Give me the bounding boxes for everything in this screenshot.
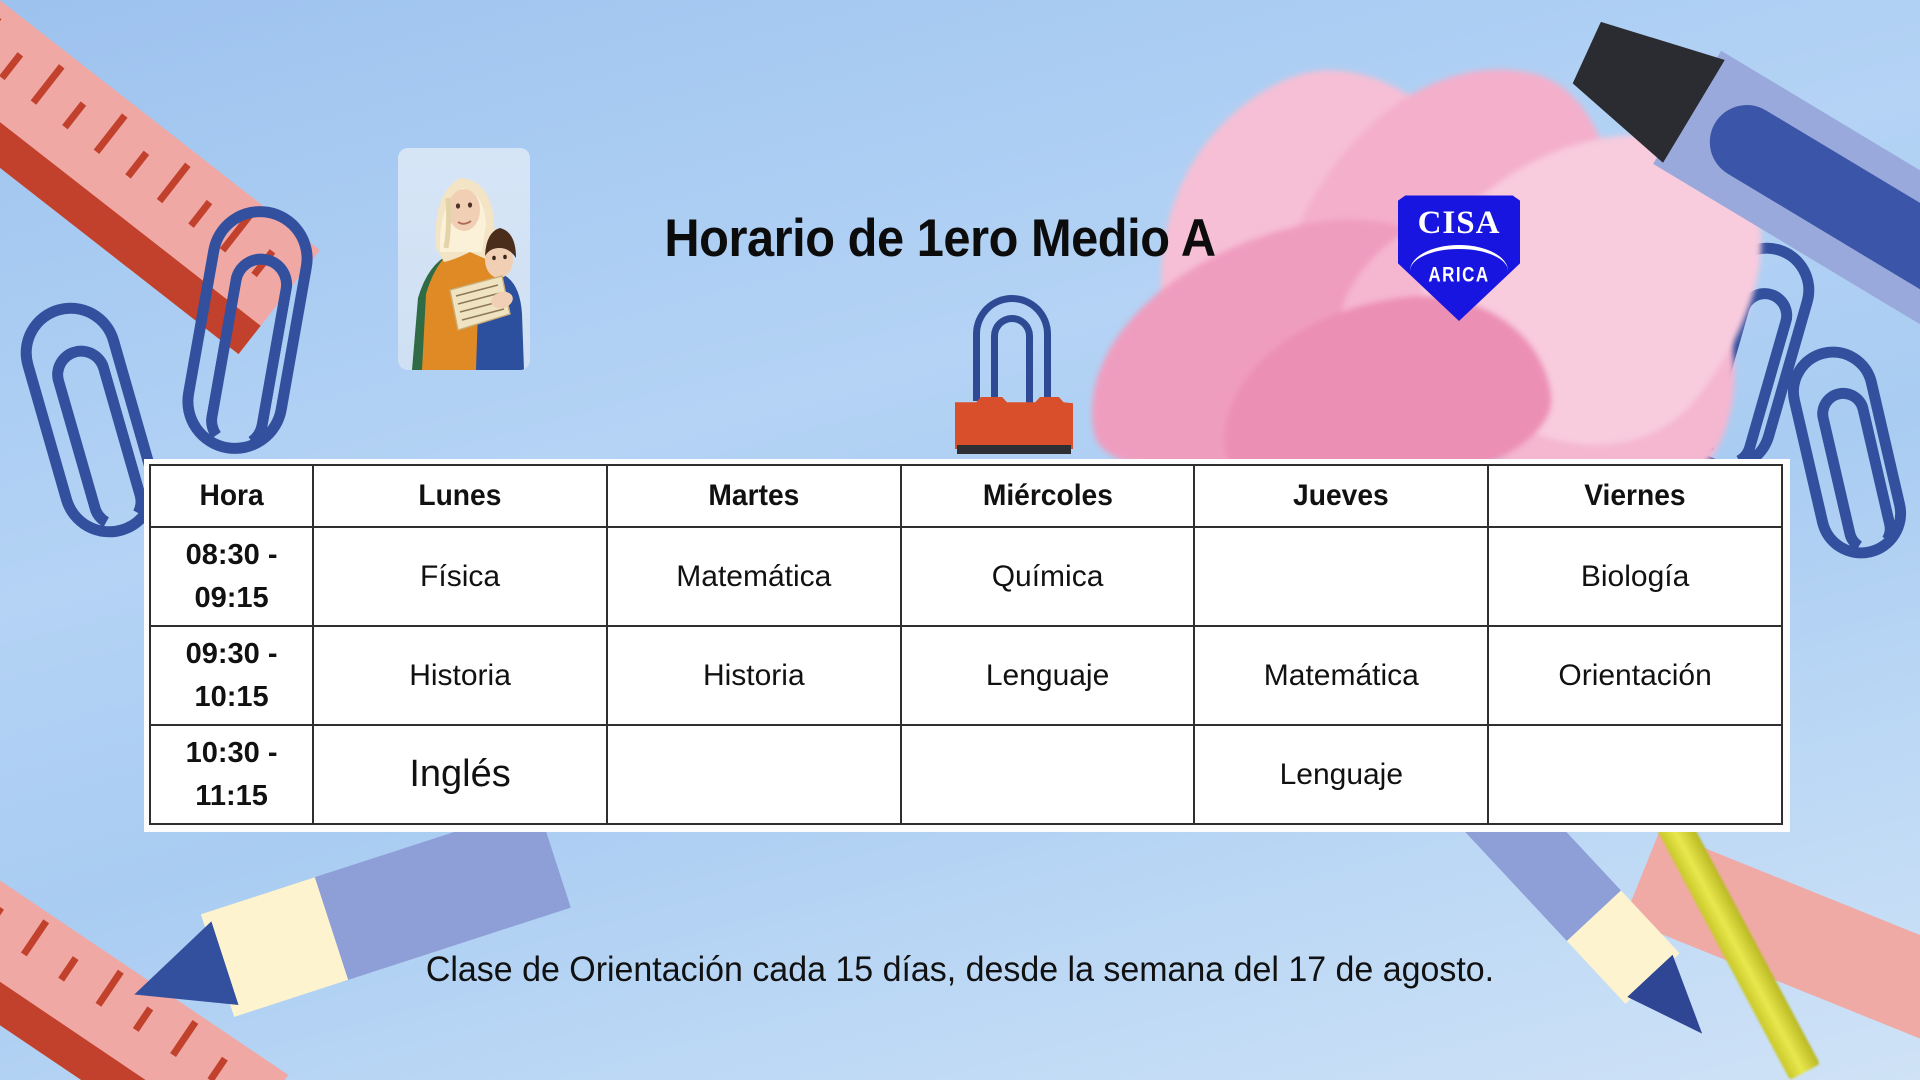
cell-miercoles-3 (901, 725, 1195, 824)
time-slot-3: 10:30 - 11:15 (150, 725, 313, 824)
binder-clip (955, 295, 1085, 455)
column-header-lunes: Lunes (322, 465, 598, 527)
column-header-jueves: Jueves (1203, 465, 1479, 527)
time-end: 11:15 (195, 780, 268, 812)
table-header-row: Hora Lunes Martes Miércoles Jueves Viern… (150, 465, 1782, 527)
cell-viernes-3 (1488, 725, 1782, 824)
table-row: 08:30 - 09:15 Física Matemática Química … (150, 527, 1782, 626)
column-header-viernes: Viernes (1497, 465, 1773, 527)
schedule-table-container: Hora Lunes Martes Miércoles Jueves Viern… (144, 459, 1790, 832)
paperclip-1 (174, 198, 321, 462)
cell-miercoles-2: Lenguaje (901, 626, 1195, 725)
cell-viernes-2: Orientación (1488, 626, 1782, 725)
schedule-table: Hora Lunes Martes Miércoles Jueves Viern… (149, 464, 1783, 825)
logo-text-arica: ARICA (1398, 263, 1520, 288)
time-slot-1: 08:30 - 09:15 (150, 527, 313, 626)
cell-miercoles-1: Química (901, 527, 1195, 626)
pencil-top-right (1552, 0, 1920, 330)
column-header-miercoles: Miércoles (910, 465, 1186, 527)
schedule-slide: Horario de 1ero Medio A CISA ARICA Hora … (0, 0, 1920, 1080)
time-start: 09:30 - (186, 638, 278, 670)
cell-jueves-3: Lenguaje (1194, 725, 1488, 824)
cell-martes-2: Historia (607, 626, 901, 725)
pencil-bottom-left (60, 827, 502, 1063)
ruler-top-left (0, 0, 320, 354)
cell-jueves-1 (1194, 527, 1488, 626)
time-end: 10:15 (195, 681, 269, 713)
column-header-martes: Martes (616, 465, 892, 527)
cell-jueves-2: Matemática (1194, 626, 1488, 725)
time-slot-2: 09:30 - 10:15 (150, 626, 313, 725)
table-row: 10:30 - 11:15 Inglés Lenguaje (150, 725, 1782, 824)
paperclip-4 (1779, 338, 1915, 568)
cell-martes-3 (607, 725, 901, 824)
saint-anne-illustration (398, 148, 530, 370)
footnote-text: Clase de Orientación cada 15 días, desde… (29, 950, 1891, 990)
cell-viernes-1: Biología (1488, 527, 1782, 626)
column-header-hora: Hora (155, 465, 308, 527)
time-start: 10:30 - (186, 737, 278, 769)
cell-lunes-3: Inglés (313, 725, 607, 824)
cell-lunes-2: Historia (313, 626, 607, 725)
time-end: 09:15 (195, 582, 269, 614)
page-title: Horario de 1ero Medio A (590, 208, 1289, 269)
logo-text-cisa: CISA (1398, 205, 1520, 242)
cisa-arica-logo: CISA ARICA (1398, 193, 1520, 321)
cell-martes-1: Matemática (607, 527, 901, 626)
yellow-pencil-bottom-right (1649, 799, 1820, 1080)
table-row: 09:30 - 10:15 Historia Historia Lenguaje… (150, 626, 1782, 725)
paperclip-3 (1669, 231, 1825, 483)
cell-lunes-1: Física (313, 527, 607, 626)
time-start: 08:30 - (186, 539, 278, 571)
